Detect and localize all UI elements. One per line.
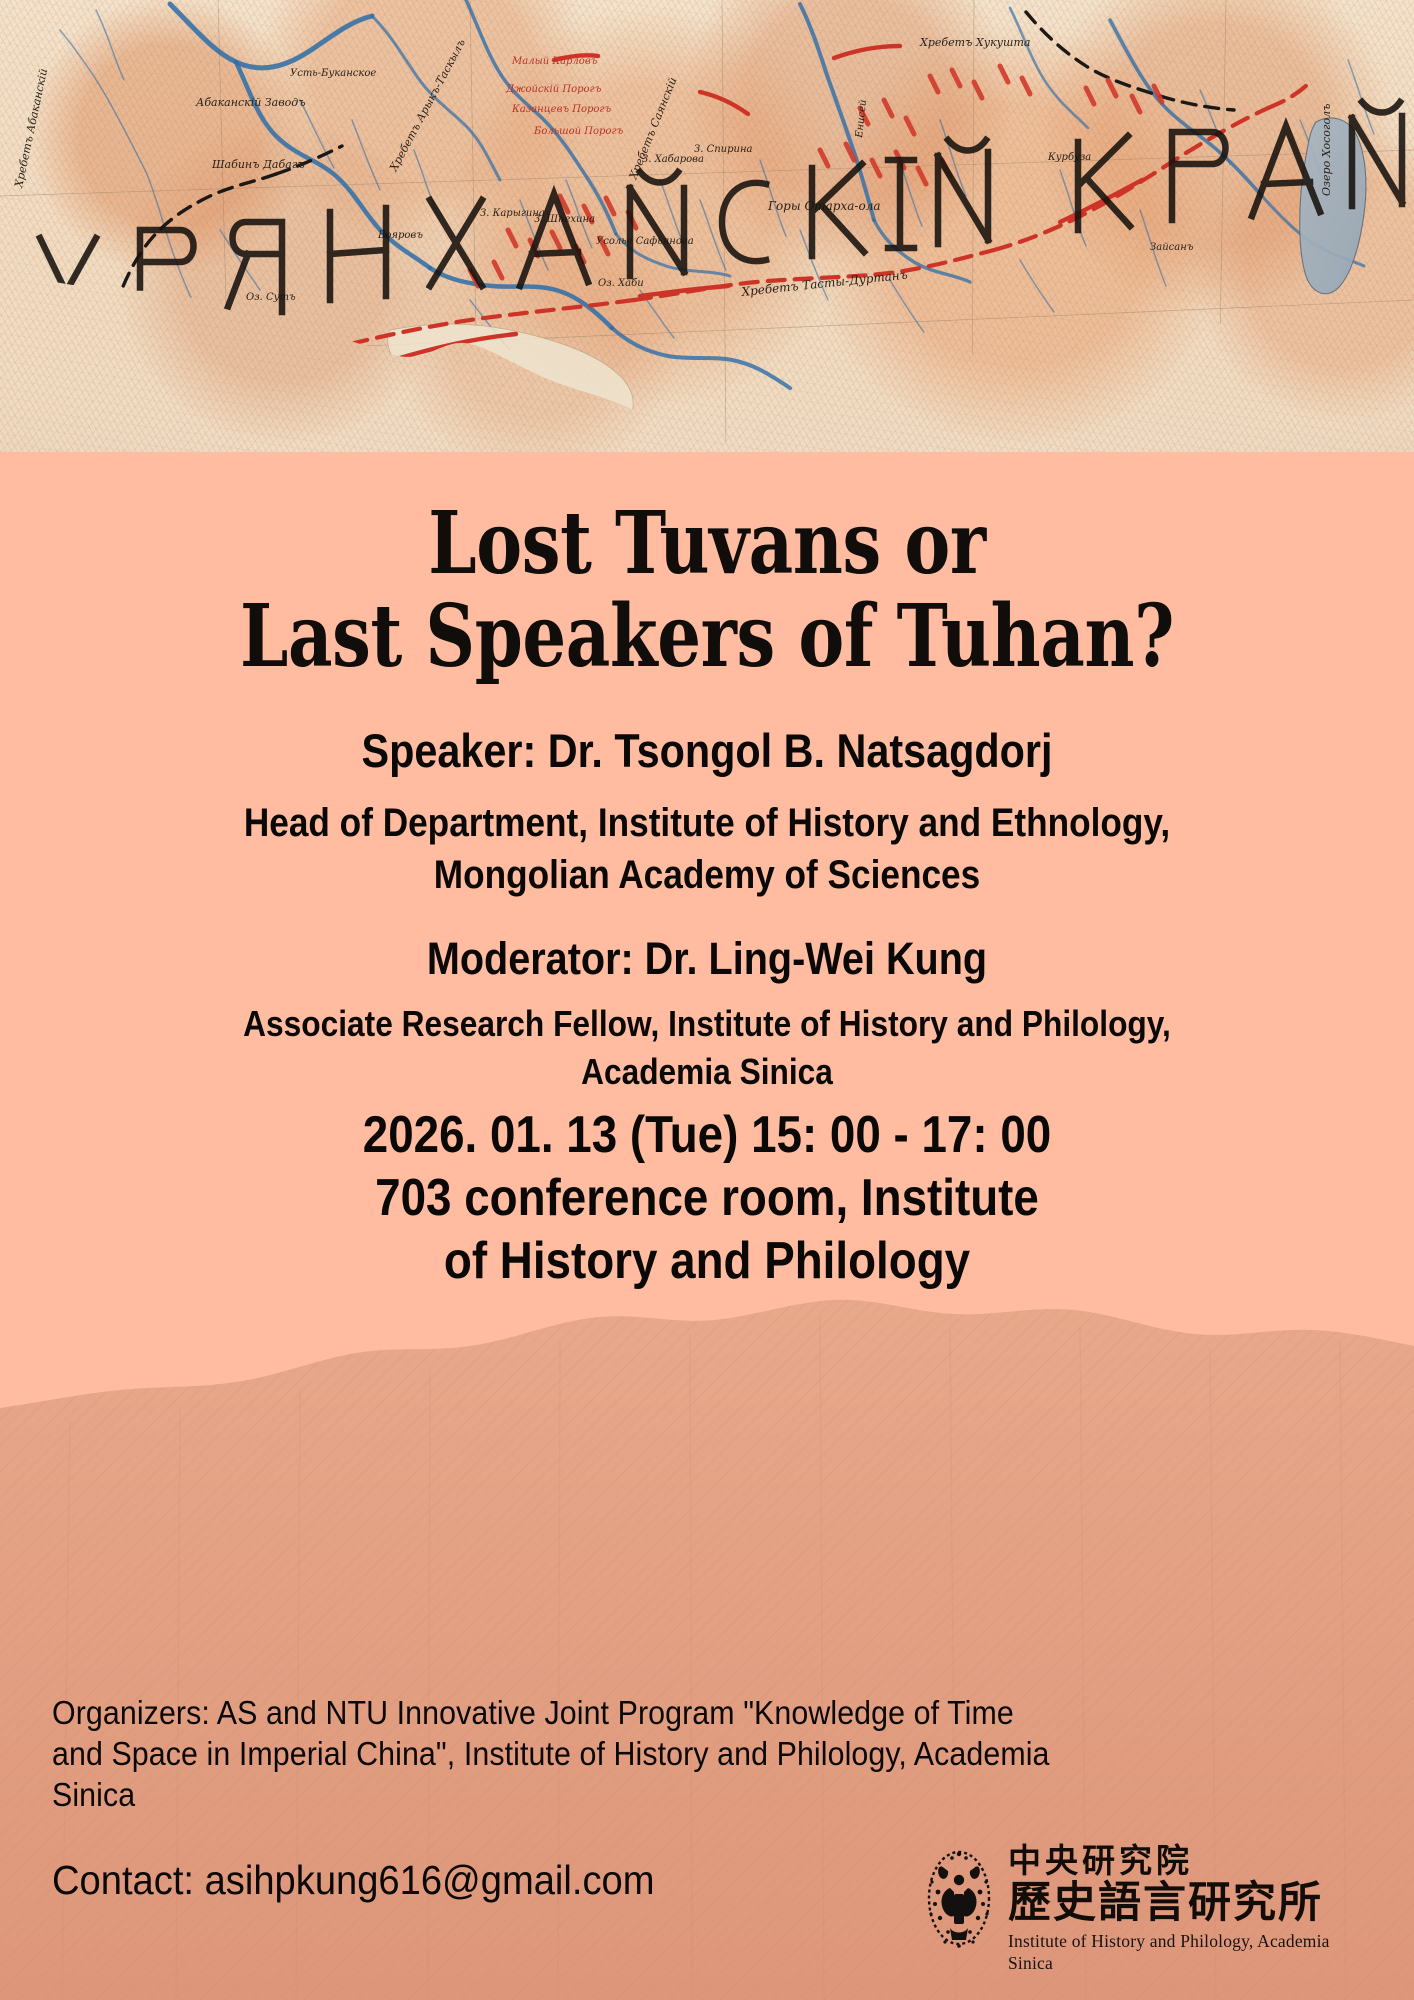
map-label: З. Хабарова — [642, 154, 704, 165]
moderator-name-block: Moderator: Dr. Ling-Wei Kung — [0, 932, 1414, 986]
map-label: Казанцевъ Порогъ — [511, 104, 611, 115]
organizers-line-3: Sinica — [52, 1774, 1147, 1815]
logo-chinese-bottom: 歷史語言研究所 — [1008, 1880, 1370, 1927]
moderator-affiliation-line-2: Academia Sinica — [85, 1048, 1329, 1096]
map-label: Оз. Сутъ — [246, 292, 296, 303]
map-lake-ubsa — [298, 339, 380, 424]
speaker-name-block: Speaker: Dr. Tsongol B. Natsagdorj — [0, 724, 1414, 778]
title-line-1: Lost Tuvans or — [141, 497, 1272, 590]
map-label: Малый Карловъ — [511, 56, 598, 67]
moderator-affiliation-block: Associate Research Fellow, Institute of … — [0, 1000, 1414, 1096]
organizers-line-2: and Space in Imperial China", Institute … — [52, 1733, 1147, 1774]
map-label: Джойскій Порогъ — [505, 84, 602, 95]
map-label: Зайсанъ — [1150, 242, 1194, 253]
poster-title: Lost Tuvans or Last Speakers of Tuhan? — [0, 497, 1414, 683]
event-venue-line-2: of History and Philology — [85, 1230, 1329, 1293]
speaker-name-line: Speaker: Dr. Tsongol B. Natsagdorj — [85, 724, 1329, 778]
event-venue-line-1: 703 conference room, Institute — [85, 1167, 1329, 1230]
map-label: Курбуза — [1047, 152, 1091, 163]
map-canvas: Хребетъ Абаканскій Абаканскій Заводъ Уст… — [0, 0, 1414, 452]
academia-sinica-emblem-icon — [920, 1844, 998, 1952]
map-label: Енисей — [854, 99, 869, 139]
event-info-block: 2026. 01. 13 (Tue) 15: 00 - 17: 00 703 c… — [0, 1104, 1414, 1293]
title-line-2: Last Speakers of Tuhan? — [141, 590, 1272, 683]
speaker-affiliation-line-2: Mongolian Academy of Sciences — [85, 849, 1329, 901]
organizers-text: Organizers: AS and NTU Innovative Joint … — [52, 1692, 1242, 1815]
contact-text: Contact: asihpkung616@gmail.com — [52, 1855, 655, 1905]
speaker-affiliation-block: Head of Department, Institute of History… — [0, 797, 1414, 901]
organizers-line-1: Organizers: AS and NTU Innovative Joint … — [52, 1692, 1147, 1733]
map-label: Оз. Убса — [320, 377, 374, 391]
map-label: Хребетъ Хукушта — [919, 36, 1030, 49]
map-label: Хребетъ Арыкъ-Таскылъ — [387, 37, 468, 174]
map-label: Большой Порогъ — [533, 126, 624, 137]
map-label: Шушенское — [347, 396, 411, 407]
moderator-affiliation-line-1: Associate Research Fellow, Institute of … — [85, 1000, 1329, 1048]
map-label: Хребетъ Тасты-Дуртанъ — [740, 268, 908, 299]
map-vector-layer: Хребетъ Абаканскій Абаканскій Заводъ Уст… — [0, 0, 1414, 452]
moderator-name-line: Moderator: Dr. Ling-Wei Kung — [85, 932, 1329, 986]
map-label: Усолье Сафьянова — [596, 236, 694, 247]
map-label: Оз. Хаби — [598, 278, 644, 289]
logo-english: Institute of History and Philology, Acad… — [1008, 1930, 1370, 1974]
speaker-affiliation-line-1: Head of Department, Institute of History… — [85, 797, 1329, 849]
event-poster: Хребетъ Абаканскій Абаканскій Заводъ Уст… — [0, 0, 1414, 2000]
map-label: Хребетъ Саянскій — [626, 75, 679, 182]
header-map-image: Хребетъ Абаканскій Абаканскій Заводъ Уст… — [0, 0, 1414, 452]
map-label: Усть-Буканское — [290, 68, 376, 79]
event-datetime: 2026. 01. 13 (Tue) 15: 00 - 17: 00 — [85, 1104, 1329, 1167]
map-label: Шабинъ Дабагъ — [211, 158, 305, 171]
map-label: Озеро Хосоголъ — [1320, 104, 1333, 196]
academia-sinica-logo: 中央研究院 歷史語言研究所 Institute of History and P… — [920, 1842, 1370, 1972]
logo-text-block: 中央研究院 歷史語言研究所 Institute of History and P… — [1008, 1842, 1370, 1974]
map-label: Абаканскій Заводъ — [195, 96, 306, 109]
map-label: Хребетъ Абаканскій — [12, 67, 50, 189]
logo-chinese-top: 中央研究院 — [1008, 1842, 1370, 1879]
